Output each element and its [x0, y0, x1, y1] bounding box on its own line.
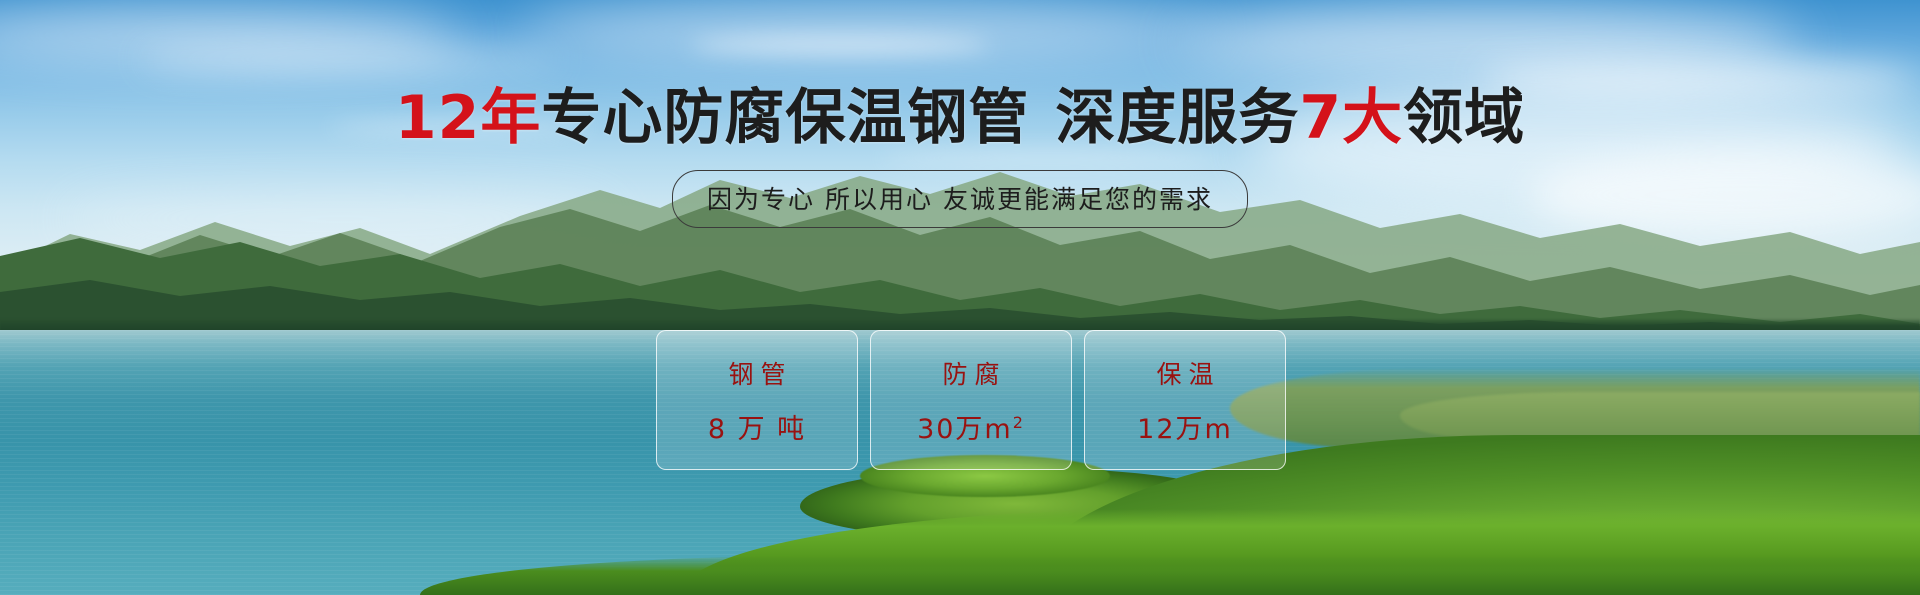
- headline-segment-focus: 专心防腐保温钢管: [541, 83, 1029, 153]
- stat-card-title: 保温: [1149, 355, 1220, 391]
- tagline-container: 因为专心 所以用心 友诚更能满足您的需求: [0, 170, 1920, 228]
- stat-card-group: 钢管 8 万 吨 防腐 30万m2 保温 12万m: [656, 330, 1286, 470]
- page-title: 12年专心防腐保温钢管深度服务7大领域: [0, 88, 1920, 148]
- stat-card-value-text: 8 万 吨: [708, 414, 806, 445]
- stat-card-anticorrosion: 防腐 30万m2: [870, 330, 1072, 470]
- stat-card-value: 30万m2: [917, 407, 1025, 446]
- stat-card-value-text: 12万m: [1137, 414, 1233, 445]
- stat-card-value: 8 万 吨: [708, 407, 806, 446]
- stat-card-value-exponent: 2: [1013, 413, 1025, 432]
- stat-card-title: 防腐: [935, 355, 1006, 391]
- stat-card-value: 12万m: [1137, 407, 1233, 446]
- tagline-pill: 因为专心 所以用心 友诚更能满足您的需求: [672, 170, 1248, 228]
- stat-card-insulation: 保温 12万m: [1084, 330, 1286, 470]
- headline-segment-years: 12年: [395, 83, 542, 153]
- headline-segment-seven: 7大: [1299, 83, 1403, 153]
- stat-card-steel-pipe: 钢管 8 万 吨: [656, 330, 858, 470]
- marsh-right-near: [1400, 392, 1920, 438]
- headline-segment-service: 深度服务: [1055, 83, 1299, 153]
- headline-segment-fields: 领域: [1403, 83, 1525, 153]
- hero-banner: 12年专心防腐保温钢管深度服务7大领域 因为专心 所以用心 友诚更能满足您的需求…: [0, 0, 1920, 595]
- grass-field-foreground: [420, 555, 1920, 595]
- stat-card-title: 钢管: [721, 355, 792, 391]
- stat-card-value-text: 30万m: [917, 414, 1013, 445]
